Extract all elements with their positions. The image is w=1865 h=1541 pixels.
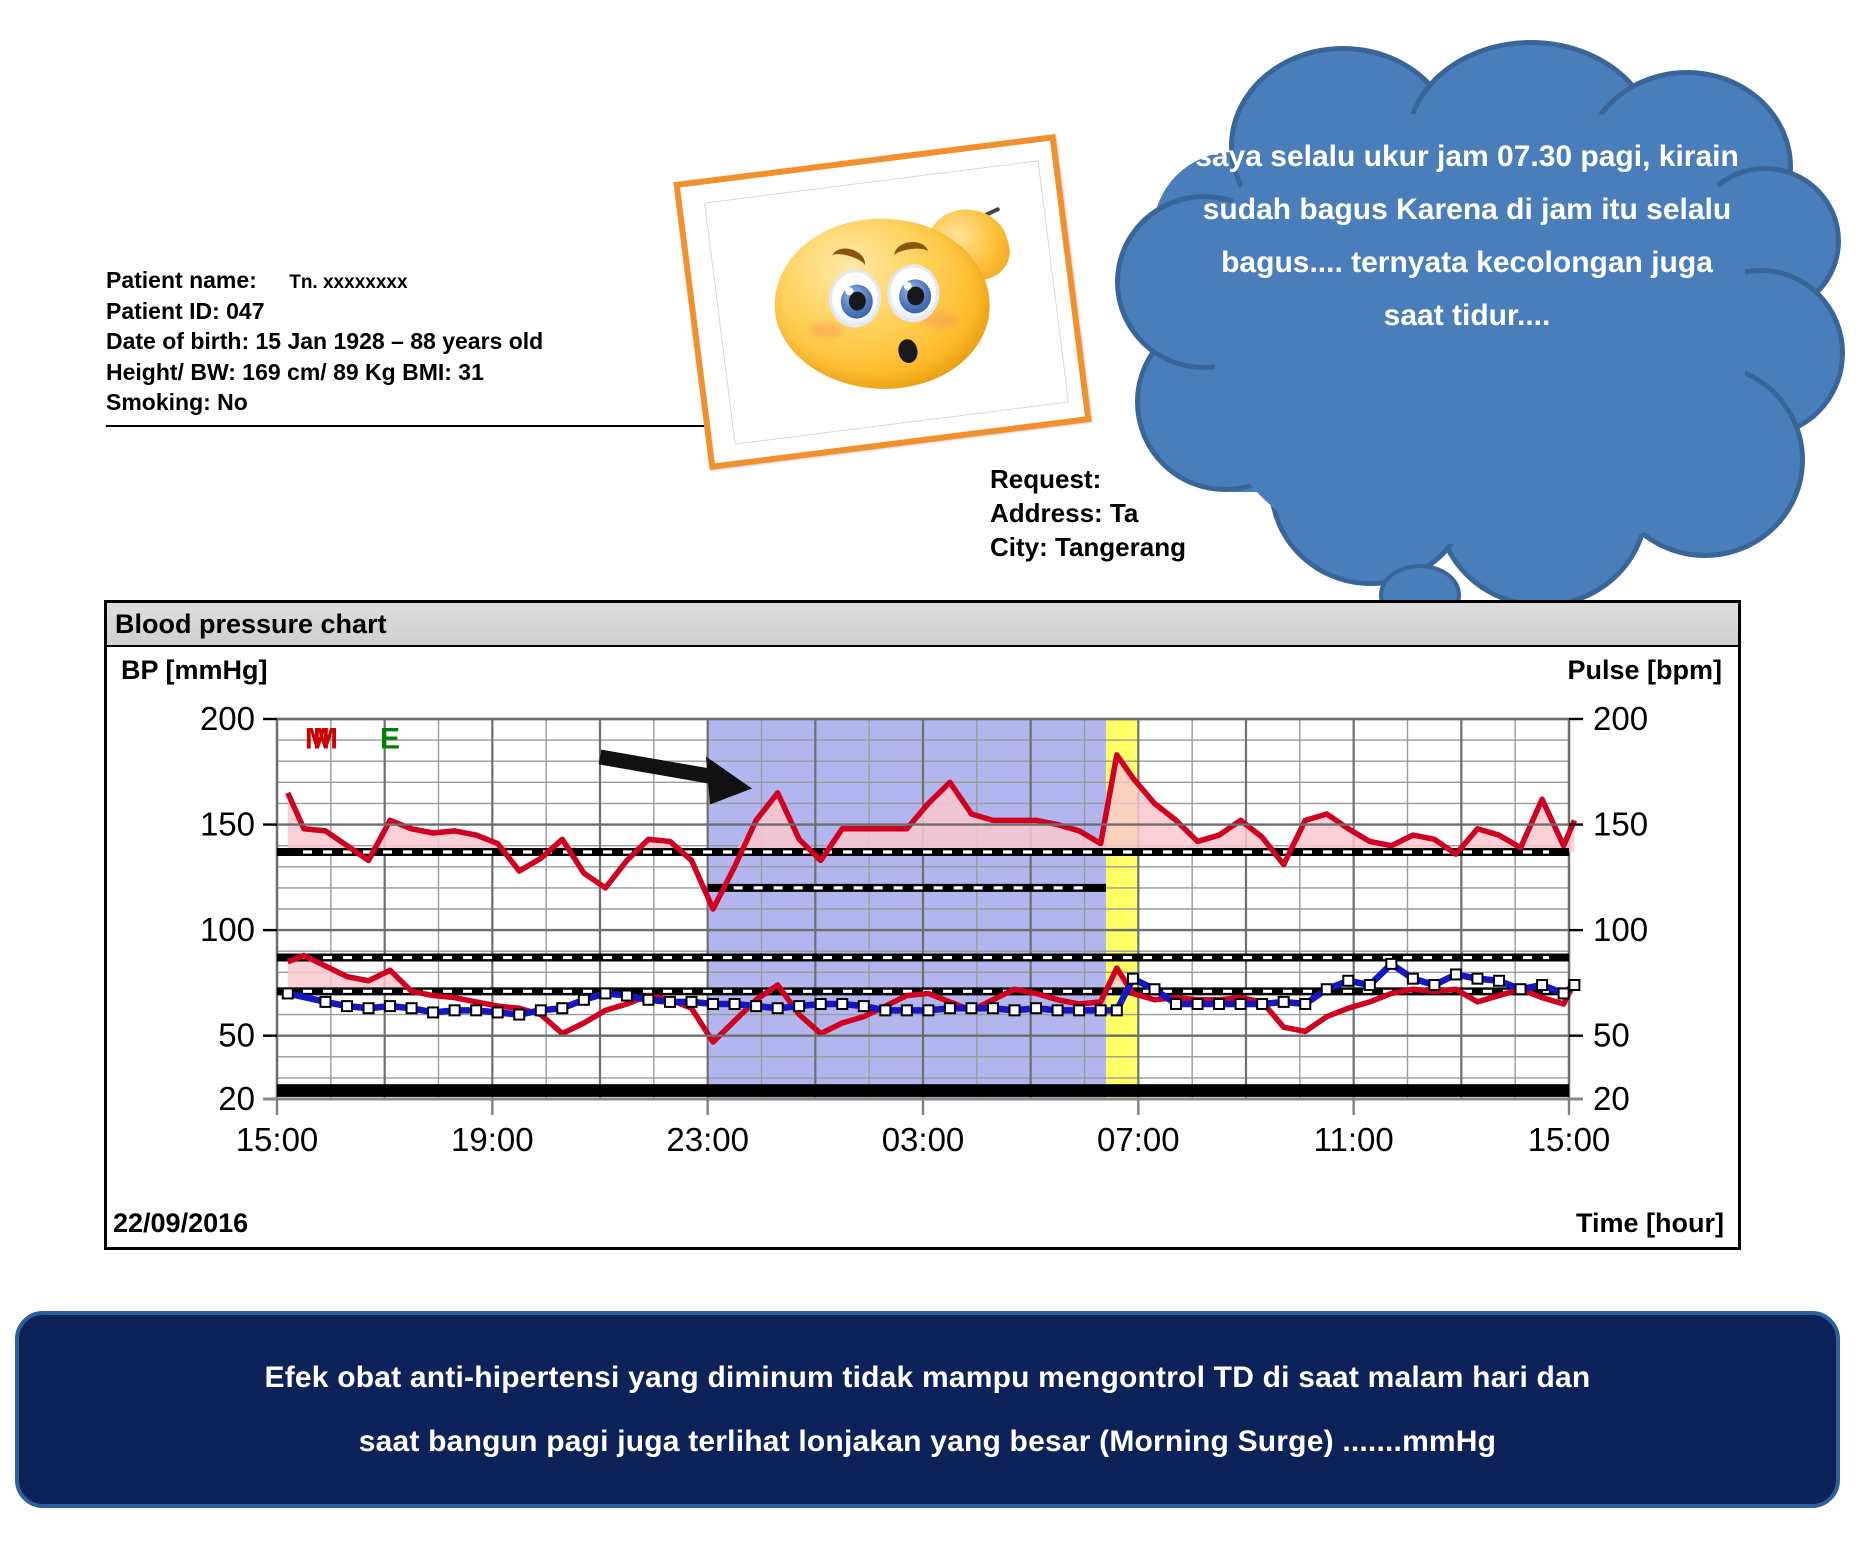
chart-date-label: 22/09/2016 bbox=[113, 1208, 248, 1239]
svg-text:100: 100 bbox=[200, 911, 255, 948]
pulse-marker bbox=[471, 1005, 481, 1015]
pulse-marker bbox=[1193, 999, 1203, 1009]
pulse-marker bbox=[880, 1005, 890, 1015]
chart-title: Blood pressure chart bbox=[115, 609, 387, 640]
chart-time-axis-title: Time [hour] bbox=[1576, 1208, 1724, 1239]
pulse-marker bbox=[1053, 1005, 1063, 1015]
photo-inner bbox=[704, 160, 1069, 444]
banner-line-2: saat bangun pagi juga terlihat lonjakan … bbox=[359, 1425, 1496, 1459]
chart-titlebar: Blood pressure chart bbox=[107, 603, 1738, 647]
svg-text:200: 200 bbox=[200, 700, 255, 737]
pulse-marker bbox=[364, 1003, 374, 1013]
pulse-marker bbox=[407, 1003, 417, 1013]
pulse-marker bbox=[283, 988, 293, 998]
pulse-marker bbox=[1429, 980, 1439, 990]
horizontal-divider bbox=[106, 425, 726, 427]
svg-text:E: E bbox=[380, 723, 400, 756]
pulse-marker bbox=[773, 1003, 783, 1013]
svg-text:50: 50 bbox=[1593, 1017, 1630, 1054]
pulse-marker bbox=[1559, 988, 1569, 998]
svg-text:M: M bbox=[305, 723, 330, 756]
pulse-marker bbox=[923, 1005, 933, 1015]
pulse-marker bbox=[1365, 980, 1375, 990]
glint bbox=[903, 282, 911, 290]
pulse-marker bbox=[1128, 974, 1138, 984]
svg-text:03:00: 03:00 bbox=[882, 1121, 965, 1158]
pulse-marker bbox=[902, 1005, 912, 1015]
svg-text:150: 150 bbox=[200, 806, 255, 843]
svg-text:07:00: 07:00 bbox=[1097, 1121, 1180, 1158]
svg-text:15:00: 15:00 bbox=[236, 1121, 319, 1158]
blood-pressure-chart-panel: Blood pressure chart BP [mmHg] Pulse [bp… bbox=[104, 600, 1741, 1250]
svg-text:11:00: 11:00 bbox=[1314, 1121, 1394, 1158]
pulse-marker bbox=[342, 1001, 352, 1011]
patient-id-line: Patient ID: 047 bbox=[106, 296, 746, 327]
svg-text:150: 150 bbox=[1593, 806, 1648, 843]
svg-text:23:00: 23:00 bbox=[666, 1121, 749, 1158]
pulse-marker bbox=[579, 995, 589, 1005]
glint bbox=[845, 287, 853, 295]
pulse-marker bbox=[794, 1001, 804, 1011]
confused-emoji-icon bbox=[770, 200, 1019, 401]
pulse-marker bbox=[1472, 974, 1482, 984]
pulse-marker bbox=[1010, 1005, 1020, 1015]
pulse-marker bbox=[536, 1005, 546, 1015]
pulse-marker bbox=[665, 997, 675, 1007]
svg-text:19:00: 19:00 bbox=[451, 1121, 534, 1158]
pulse-marker bbox=[859, 1001, 869, 1011]
banner-line-1: Efek obat anti-hipertensi yang diminum t… bbox=[265, 1361, 1591, 1395]
patient-name-value: Tn. xxxxxxxx bbox=[263, 272, 407, 293]
svg-text:50: 50 bbox=[218, 1017, 255, 1054]
left-axis-title: BP [mmHg] bbox=[121, 655, 268, 686]
pulse-marker bbox=[988, 1003, 998, 1013]
pulse-marker bbox=[687, 997, 697, 1007]
svg-text:15:00: 15:00 bbox=[1528, 1121, 1611, 1158]
chart-svg: MEM2020505010010015015020020015:0019:002… bbox=[107, 699, 1738, 1249]
patient-info-block: Patient name: Tn. xxxxxxxx Patient ID: 0… bbox=[106, 265, 746, 418]
pulse-marker bbox=[600, 988, 610, 998]
pulse-marker bbox=[966, 1003, 976, 1013]
pulse-marker bbox=[1569, 980, 1579, 990]
pulse-marker bbox=[493, 1007, 503, 1017]
pulse-marker bbox=[1386, 959, 1396, 969]
pulse-marker bbox=[1171, 999, 1181, 1009]
photo-frame bbox=[673, 134, 1091, 470]
patient-name-line: Patient name: Tn. xxxxxxxx bbox=[106, 265, 746, 296]
pulse-marker bbox=[1214, 999, 1224, 1009]
pulse-marker bbox=[514, 1010, 524, 1020]
pulse-marker bbox=[945, 1003, 955, 1013]
pulse-marker bbox=[708, 999, 718, 1009]
speech-cloud-callout: saya selalu ukur jam 07.30 pagi, kirain … bbox=[1105, 44, 1840, 634]
pulse-marker bbox=[622, 991, 632, 1001]
svg-text:200: 200 bbox=[1593, 700, 1648, 737]
pulse-marker bbox=[557, 1003, 567, 1013]
cloud-text: saya selalu ukur jam 07.30 pagi, kirain … bbox=[1187, 130, 1747, 342]
pulse-marker bbox=[1112, 1005, 1122, 1015]
pulse-marker bbox=[816, 999, 826, 1009]
pulse-marker bbox=[837, 999, 847, 1009]
pulse-marker bbox=[1236, 999, 1246, 1009]
pulse-marker bbox=[1494, 976, 1504, 986]
pulse-marker bbox=[1516, 984, 1526, 994]
pulse-marker bbox=[730, 999, 740, 1009]
pulse-marker bbox=[643, 995, 653, 1005]
svg-text:20: 20 bbox=[1593, 1080, 1630, 1117]
pulse-marker bbox=[1343, 976, 1353, 986]
pulse-marker bbox=[1257, 999, 1267, 1009]
conclusion-banner: Efek obat anti-hipertensi yang diminum t… bbox=[15, 1311, 1840, 1508]
svg-text:100: 100 bbox=[1593, 911, 1648, 948]
pulse-marker bbox=[1096, 1005, 1106, 1015]
pulse-marker bbox=[1408, 974, 1418, 984]
pulse-marker bbox=[1300, 999, 1310, 1009]
pulse-marker bbox=[1074, 1005, 1084, 1015]
pulse-marker bbox=[450, 1005, 460, 1015]
pulse-marker bbox=[320, 997, 330, 1007]
patient-body-line: Height/ BW: 169 cm/ 89 Kg BMI: 31 bbox=[106, 357, 746, 388]
patient-dob-line: Date of birth: 15 Jan 1928 – 88 years ol… bbox=[106, 326, 746, 357]
pulse-marker bbox=[385, 1001, 395, 1011]
sleep-indicator-bar bbox=[277, 1084, 1569, 1097]
pulse-marker bbox=[1031, 1003, 1041, 1013]
pulse-marker bbox=[1537, 980, 1547, 990]
pulse-marker bbox=[751, 1001, 761, 1011]
pulse-marker bbox=[1149, 984, 1159, 994]
pulse-marker bbox=[1451, 969, 1461, 979]
right-axis-title: Pulse [bpm] bbox=[1567, 655, 1722, 686]
svg-text:20: 20 bbox=[218, 1080, 255, 1117]
patient-name-label: Patient name: bbox=[106, 267, 257, 293]
plot-area: MEM2020505010010015015020020015:0019:002… bbox=[107, 699, 1738, 1249]
pulse-marker bbox=[1322, 984, 1332, 994]
pulse-marker bbox=[428, 1007, 438, 1017]
pulse-marker bbox=[1279, 997, 1289, 1007]
patient-smoking-line: Smoking: No bbox=[106, 387, 746, 418]
